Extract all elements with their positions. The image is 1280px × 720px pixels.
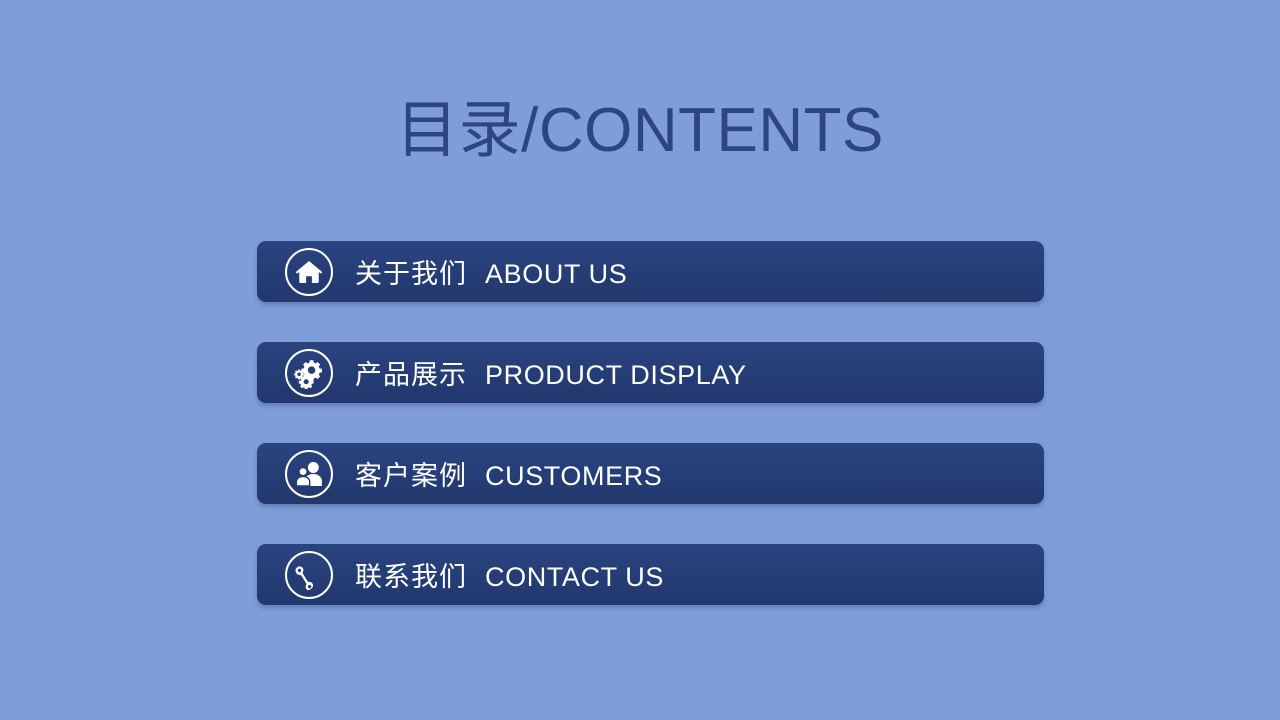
page-title: 目录/CONTENTS bbox=[0, 100, 1280, 162]
menu-item-label-en: CUSTOMERS bbox=[485, 461, 662, 492]
people-icon bbox=[285, 450, 333, 498]
menu-item-labels: 客户案例 CUSTOMERS bbox=[355, 454, 662, 493]
contents-menu: 关于我们 ABOUT US bbox=[257, 241, 1044, 605]
home-icon bbox=[285, 248, 333, 296]
phone-icon bbox=[285, 551, 333, 599]
menu-item-label-en: ABOUT US bbox=[485, 259, 627, 290]
menu-item-label-en: CONTACT US bbox=[485, 562, 664, 593]
menu-item-label-cn: 产品展示 bbox=[355, 353, 467, 392]
gears-icon bbox=[285, 349, 333, 397]
menu-item-contact-us[interactable]: 联系我们 CONTACT US bbox=[257, 544, 1044, 605]
menu-item-product-display[interactable]: 产品展示 PRODUCT DISPLAY bbox=[257, 342, 1044, 403]
menu-item-labels: 产品展示 PRODUCT DISPLAY bbox=[355, 353, 747, 392]
menu-item-label-en: PRODUCT DISPLAY bbox=[485, 360, 747, 391]
menu-item-label-cn: 联系我们 bbox=[355, 555, 467, 594]
menu-item-labels: 联系我们 CONTACT US bbox=[355, 555, 664, 594]
menu-item-about-us[interactable]: 关于我们 ABOUT US bbox=[257, 241, 1044, 302]
menu-item-label-cn: 客户案例 bbox=[355, 454, 467, 493]
menu-item-label-cn: 关于我们 bbox=[355, 252, 467, 291]
menu-item-labels: 关于我们 ABOUT US bbox=[355, 252, 627, 291]
contents-slide: 目录/CONTENTS 关于我们 ABOUT US bbox=[0, 0, 1280, 720]
menu-item-customers[interactable]: 客户案例 CUSTOMERS bbox=[257, 443, 1044, 504]
